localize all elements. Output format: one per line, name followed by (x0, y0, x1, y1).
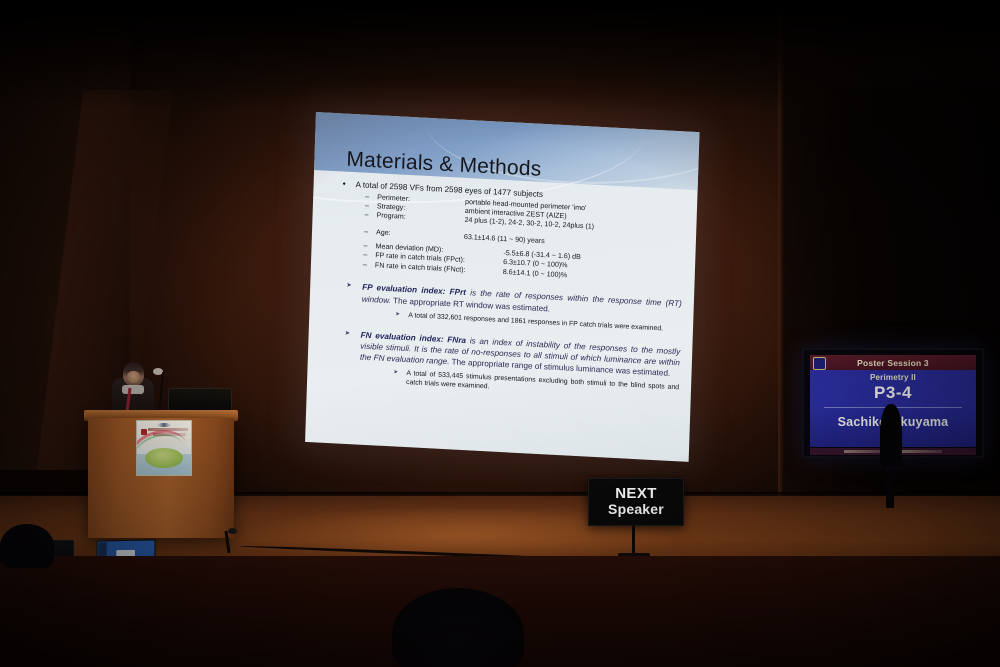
next-speaker-sign: NEXT Speaker (588, 478, 684, 526)
projection-screen: Materials & Methods A total of 2598 VFs … (305, 112, 699, 462)
slide-title: Materials & Methods (346, 148, 542, 182)
slide-body: A total of 2598 VFs from 2598 eyes of 14… (333, 179, 685, 402)
ceiling-shadow (0, 0, 1000, 110)
poster-title-text-line (148, 428, 188, 431)
signage-presentation-code: P3-4 (810, 383, 976, 403)
auditorium-scene: Materials & Methods A total of 2598 VFs … (0, 0, 1000, 667)
signage-footer-text-right (900, 450, 942, 453)
fn-evaluation-index-paragraph: FN evaluation index: FNra is an index of… (343, 329, 680, 402)
poster-island-illustration (145, 448, 183, 468)
speaker-collar (122, 385, 144, 394)
audience-member-silhouette (0, 524, 54, 568)
fp-evaluation-index-paragraph: FP evaluation index: FPrt is the rate of… (345, 281, 682, 334)
fp-index-sub-bullet: A total of 332,601 responses and 1861 re… (395, 310, 681, 334)
signage-session-bar: Poster Session 3 (810, 355, 976, 370)
next-speaker-line-1: NEXT (615, 486, 657, 502)
signage-subtitle: Perimetry II (810, 373, 976, 382)
symposium-poster (136, 420, 192, 476)
speaker-face (127, 371, 140, 383)
poster-bird-icon (157, 423, 171, 427)
signage-session-label: Poster Session 3 (857, 358, 929, 368)
slide-surface: Materials & Methods A total of 2598 VFs … (305, 112, 699, 462)
congress-emblem-icon (813, 357, 826, 370)
floor-microphone-head (228, 528, 237, 534)
signage-foreground-silhouette (880, 404, 902, 466)
poster-subtitle-text-line (153, 433, 186, 436)
next-speaker-line-2: Speaker (608, 502, 664, 517)
poster-emblem-icon (141, 429, 147, 435)
next-speaker-sign-pole (632, 523, 635, 555)
